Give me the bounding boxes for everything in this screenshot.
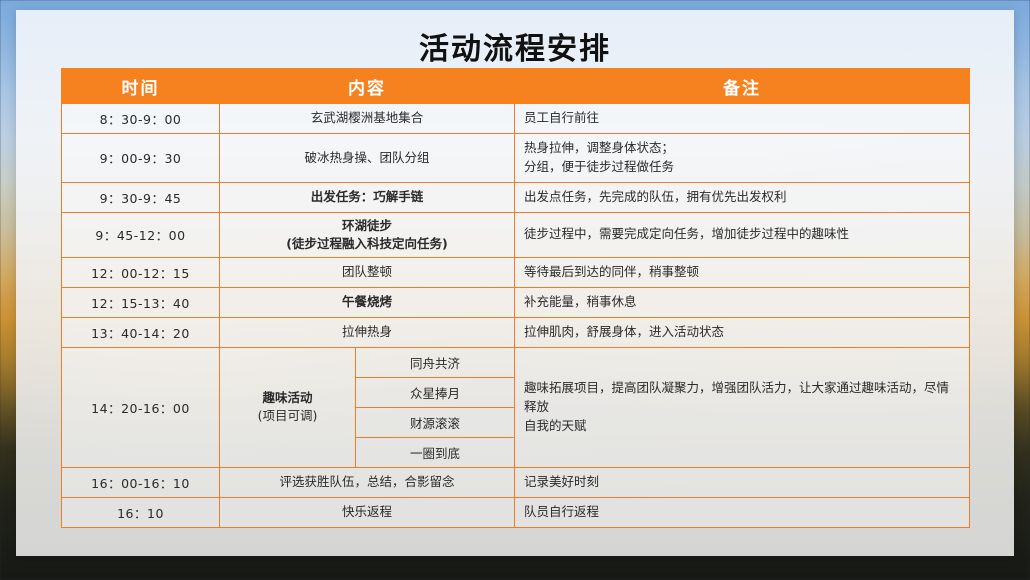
- column-header-content: 内容: [220, 69, 515, 104]
- cell-content: 环湖徒步 (徒步过程融入科技定向任务): [220, 212, 515, 257]
- content-line: 趣味活动: [226, 389, 349, 407]
- cell-content: 出发任务：巧解手链: [220, 182, 515, 212]
- cell-content: 破冰热身操、团队分组: [220, 134, 515, 183]
- table-header-row: 时间 内容 备注: [62, 69, 970, 104]
- table-row: 9：45-12：00 环湖徒步 (徒步过程融入科技定向任务) 徒步过程中，需要完…: [62, 212, 970, 257]
- cell-time: 8：30-9：00: [62, 104, 220, 134]
- cell-content: 评选获胜队伍，总结，合影留念: [220, 467, 515, 497]
- cell-time: 9：30-9：45: [62, 182, 220, 212]
- cell-remark: 出发点任务，先完成的队伍，拥有优先出发权利: [515, 182, 970, 212]
- cell-remark: 补充能量，稍事休息: [515, 287, 970, 317]
- table-row: 16：10 快乐返程 队员自行返程: [62, 497, 970, 527]
- cell-time: 16：10: [62, 497, 220, 527]
- cell-content: 快乐返程: [220, 497, 515, 527]
- page-title: 活动流程安排: [16, 24, 1014, 68]
- schedule-table: 时间 内容 备注 8：30-9：00 玄武湖樱洲基地集合 员工自行前往 9：00…: [61, 68, 970, 528]
- cell-remark: 热身拉伸，调整身体状态； 分组，便于徒步过程做任务: [515, 134, 970, 183]
- table-row: 12：15-13：40 午餐烧烤 补充能量，稍事休息: [62, 287, 970, 317]
- cell-content: 午餐烧烤: [220, 287, 515, 317]
- cell-time-fun: 14：20-16：00: [62, 347, 220, 467]
- content-line: (徒步过程融入科技定向任务): [226, 235, 508, 253]
- cell-content-fun: 趣味活动 (项目可调): [220, 347, 356, 467]
- table-row: 12：00-12：15 团队整顿 等待最后到达的同伴，稍事整顿: [62, 257, 970, 287]
- table-row: 16：00-16：10 评选获胜队伍，总结，合影留念 记录美好时刻: [62, 467, 970, 497]
- table-row: 9：00-9：30 破冰热身操、团队分组 热身拉伸，调整身体状态； 分组，便于徒…: [62, 134, 970, 183]
- cell-sub-activity: 财源滚滚: [356, 407, 515, 437]
- cell-sub-activity: 一圈到底: [356, 437, 515, 467]
- cell-content: 玄武湖樱洲基地集合: [220, 104, 515, 134]
- table-row: 13：40-14：20 拉伸热身 拉伸肌肉，舒展身体，进入活动状态: [62, 317, 970, 347]
- cell-sub-activity: 同舟共济: [356, 347, 515, 377]
- table-row-fun-activities: 14：20-16：00 趣味活动 (项目可调) 同舟共济 趣味拓展项目，提高团队…: [62, 347, 970, 377]
- cell-time: 9：45-12：00: [62, 212, 220, 257]
- content-line: (项目可调): [226, 407, 349, 425]
- remark-line: 热身拉伸，调整身体状态；: [524, 139, 960, 158]
- cell-remark: 徒步过程中，需要完成定向任务，增加徒步过程中的趣味性: [515, 212, 970, 257]
- cell-remark: 拉伸肌肉，舒展身体，进入活动状态: [515, 317, 970, 347]
- cell-time: 13：40-14：20: [62, 317, 220, 347]
- cell-remark-fun: 趣味拓展项目，提高团队凝聚力，增强团队活力，让大家通过趣味活动，尽情释放 自我的…: [515, 347, 970, 467]
- cell-time: 12：15-13：40: [62, 287, 220, 317]
- content-line: 环湖徒步: [226, 217, 508, 235]
- cell-time: 9：00-9：30: [62, 134, 220, 183]
- schedule-card: 活动流程安排 时间 内容 备注 8：30-9：00 玄武湖樱洲基地集合 员工自行…: [16, 10, 1014, 556]
- remark-line: 自我的天赋: [524, 417, 960, 436]
- remark-line: 分组，便于徒步过程做任务: [524, 158, 960, 177]
- cell-sub-activity: 众星捧月: [356, 377, 515, 407]
- cell-remark: 队员自行返程: [515, 497, 970, 527]
- cell-remark: 等待最后到达的同伴，稍事整顿: [515, 257, 970, 287]
- cell-content: 拉伸热身: [220, 317, 515, 347]
- cell-time: 16：00-16：10: [62, 467, 220, 497]
- cell-time: 12：00-12：15: [62, 257, 220, 287]
- cell-remark: 员工自行前往: [515, 104, 970, 134]
- cell-content: 团队整顿: [220, 257, 515, 287]
- column-header-time: 时间: [62, 69, 220, 104]
- cell-remark: 记录美好时刻: [515, 467, 970, 497]
- table-row: 8：30-9：00 玄武湖樱洲基地集合 员工自行前往: [62, 104, 970, 134]
- table-row: 9：30-9：45 出发任务：巧解手链 出发点任务，先完成的队伍，拥有优先出发权…: [62, 182, 970, 212]
- remark-line: 趣味拓展项目，提高团队凝聚力，增强团队活力，让大家通过趣味活动，尽情释放: [524, 379, 960, 417]
- column-header-remark: 备注: [515, 69, 970, 104]
